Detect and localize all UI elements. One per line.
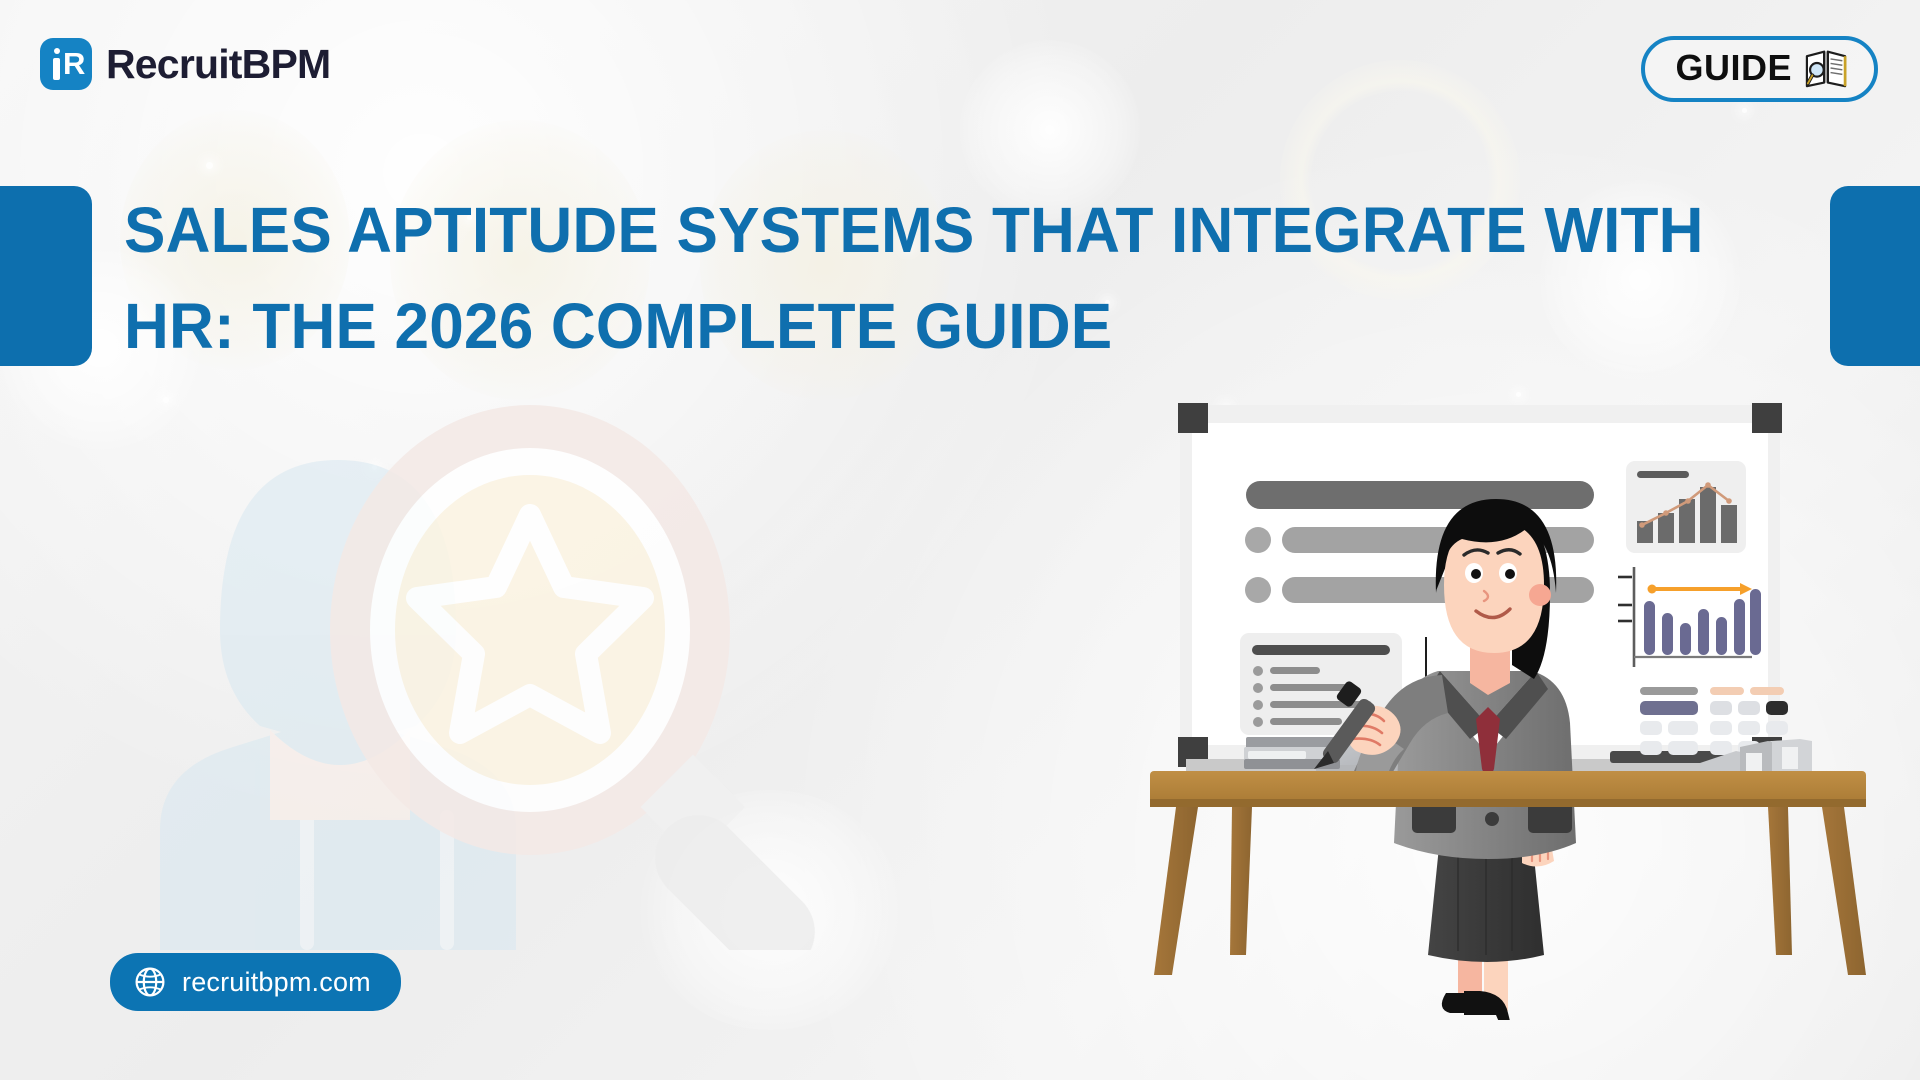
open-book-magnifier-icon <box>1804 48 1848 88</box>
sparkle-dot <box>163 397 169 403</box>
sparkle-dot <box>206 162 213 169</box>
poster-canvas: R RecruitBPM GUIDE Sales Aptitude System… <box>0 0 1920 1080</box>
logo-wordmark: RecruitBPM <box>106 41 330 88</box>
accent-bar-right <box>1830 186 1920 366</box>
page-title: Sales Aptitude Systems That Integrate Wi… <box>124 182 1754 374</box>
bar-chart-card <box>1626 461 1746 553</box>
guide-badge-label: GUIDE <box>1675 47 1792 89</box>
logo-mark-icon: R <box>40 38 92 90</box>
website-url-pill[interactable]: recruitbpm.com <box>110 953 401 1011</box>
businesswoman-whiteboard-illustration <box>1140 395 1880 1020</box>
sparkle-dot <box>1742 108 1747 113</box>
recruitbpm-logo[interactable]: R RecruitBPM <box>40 38 330 90</box>
bokeh-circle <box>640 790 900 1030</box>
sparkle-dot <box>372 465 377 470</box>
accent-bar-left <box>0 186 92 366</box>
watermark-illustration <box>100 330 860 950</box>
globe-icon <box>134 966 166 998</box>
website-url-text: recruitbpm.com <box>182 967 371 998</box>
guide-badge[interactable]: GUIDE <box>1641 36 1878 102</box>
logo-mark-letter: R <box>63 48 84 80</box>
